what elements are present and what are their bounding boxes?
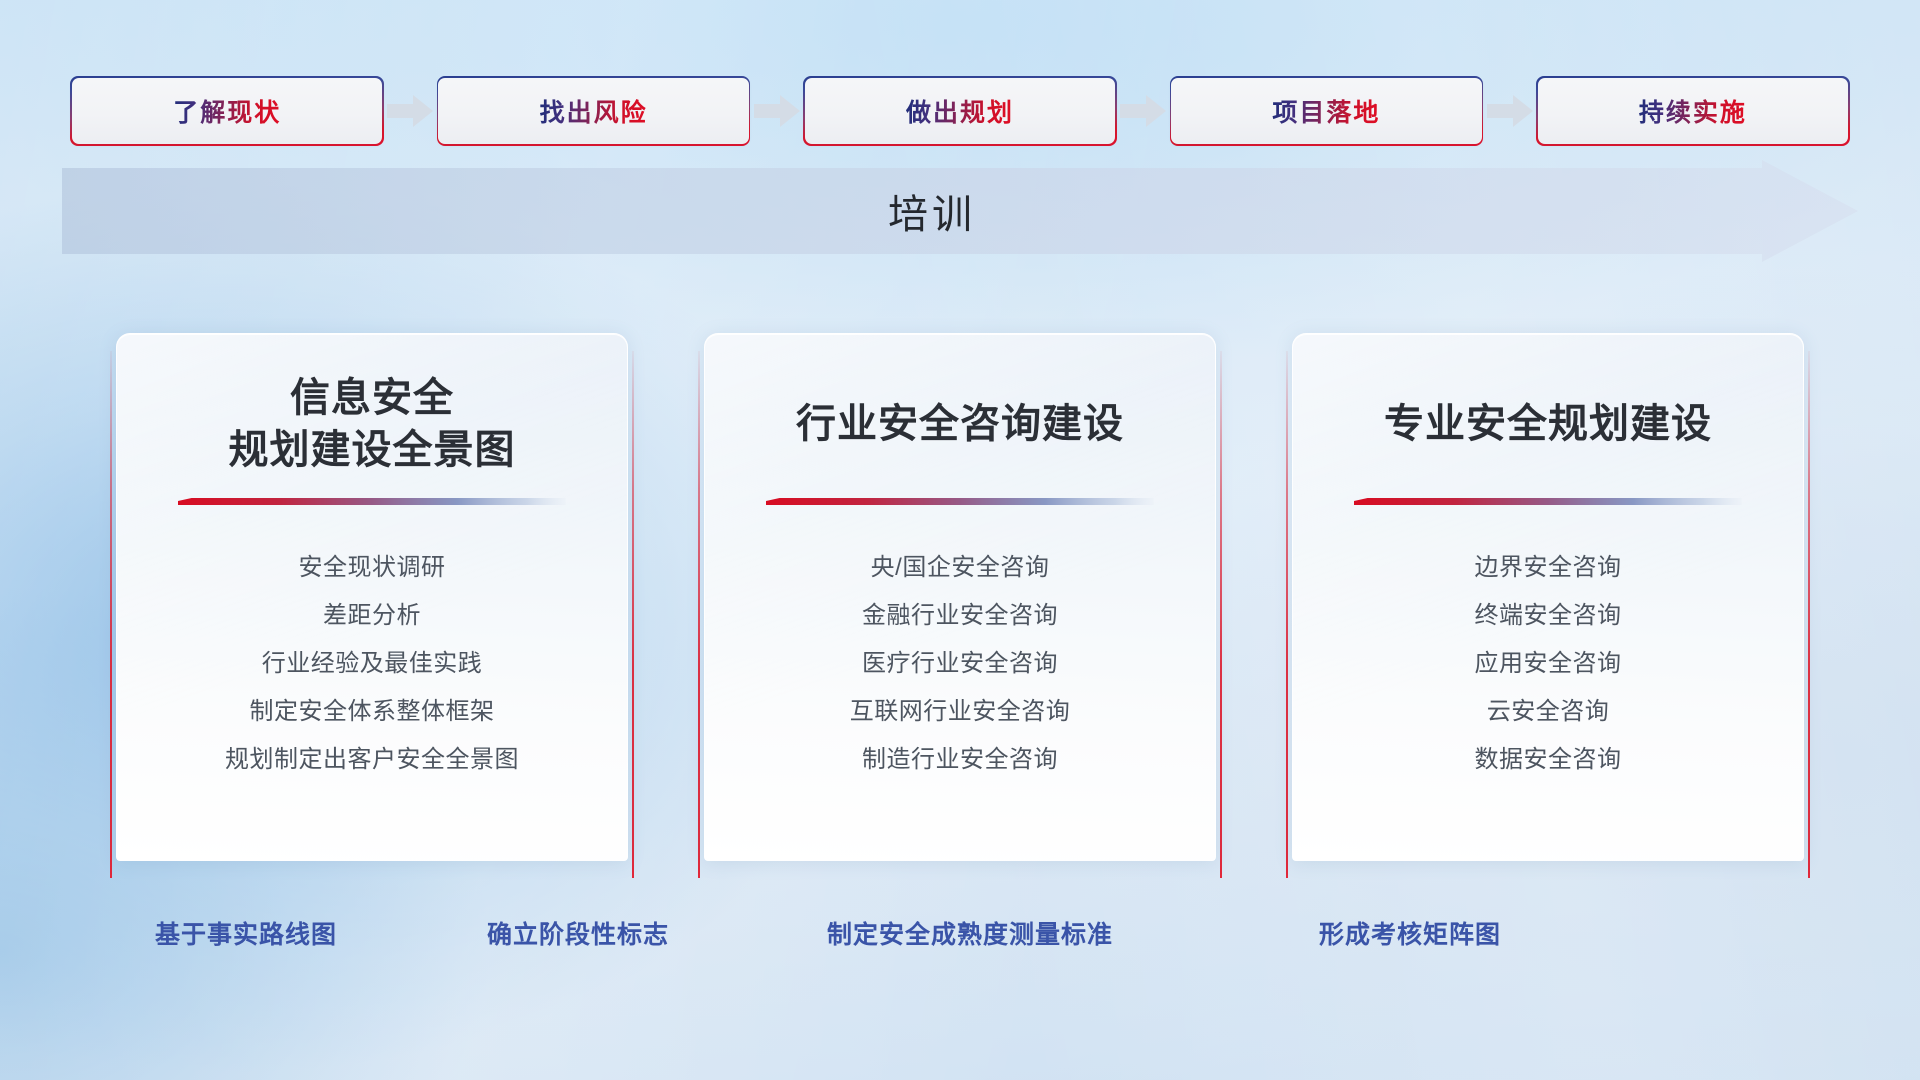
card-wrap-2: 行业安全咨询建设 [698, 333, 1222, 878]
capability-card-row: 信息安全 规划建设全景图 [110, 333, 1810, 878]
footer-label-2: 确立阶段性标志 [487, 915, 669, 951]
arrow-right-icon [1120, 95, 1166, 127]
step-label-5: 持续实施 [1639, 93, 1747, 129]
card-title-2: 行业安全咨询建设 [796, 372, 1124, 476]
list-item: 差距分析 [117, 592, 627, 640]
card-item-list-2: 央/国企安全咨询 金融行业安全咨询 医疗行业安全咨询 互联网行业安全咨询 制造行… [705, 544, 1215, 784]
list-item: 制定安全体系整体框架 [117, 688, 627, 736]
step-connector-4 [1482, 88, 1538, 134]
step-label-3: 做出规划 [906, 93, 1014, 129]
step-box-5[interactable]: 持续实施 [1538, 78, 1848, 144]
card-wrap-1: 信息安全 规划建设全景图 [110, 333, 634, 878]
card-wrap-3: 专业安全规划建设 [1286, 333, 1810, 878]
tapered-gradient-rule-icon [1354, 498, 1742, 512]
capability-card-2[interactable]: 行业安全咨询建设 [704, 333, 1216, 861]
footer-label-1: 基于事实路线图 [155, 915, 337, 951]
list-item: 互联网行业安全咨询 [705, 688, 1215, 736]
list-item: 云安全咨询 [1293, 688, 1803, 736]
arrow-right-icon [387, 95, 433, 127]
list-item: 规划制定出客户安全全景图 [117, 736, 627, 784]
list-item: 医疗行业安全咨询 [705, 640, 1215, 688]
process-step-row: 了解现状 找出风险 做出规划 项目落地 [72, 78, 1848, 144]
card-left-edge-2 [698, 351, 700, 878]
step-box-4[interactable]: 项目落地 [1171, 78, 1481, 144]
card-left-edge-1 [110, 351, 112, 878]
step-label-4: 项目落地 [1272, 93, 1380, 129]
list-item: 边界安全咨询 [1293, 544, 1803, 592]
card-title-1: 信息安全 规划建设全景图 [229, 372, 516, 476]
card-right-edge-2 [1220, 351, 1222, 878]
tapered-gradient-rule-icon [178, 498, 566, 512]
step-connector-3 [1115, 88, 1171, 134]
card-right-edge-3 [1808, 351, 1810, 878]
list-item: 行业经验及最佳实践 [117, 640, 627, 688]
step-box-3[interactable]: 做出规划 [805, 78, 1115, 144]
step-label-1: 了解现状 [173, 93, 281, 129]
footer-label-4: 形成考核矩阵图 [1319, 915, 1501, 951]
card-item-list-1: 安全现状调研 差距分析 行业经验及最佳实践 制定安全体系整体框架 规划制定出客户… [117, 544, 627, 784]
list-item: 终端安全咨询 [1293, 592, 1803, 640]
capability-card-3[interactable]: 专业安全规划建设 [1292, 333, 1804, 861]
arrow-right-icon [754, 95, 800, 127]
list-item: 金融行业安全咨询 [705, 592, 1215, 640]
step-box-2[interactable]: 找出风险 [438, 78, 748, 144]
tapered-gradient-rule-icon [766, 498, 1154, 512]
footer-label-row: 基于事实路线图 确立阶段性标志 制定安全成熟度测量标准 形成考核矩阵图 [0, 915, 1920, 959]
card-item-list-3: 边界安全咨询 终端安全咨询 应用安全咨询 云安全咨询 数据安全咨询 [1293, 544, 1803, 784]
step-box-1[interactable]: 了解现状 [72, 78, 382, 144]
banner-title: 培训 [62, 160, 1802, 262]
list-item: 央/国企安全咨询 [705, 544, 1215, 592]
step-connector-2 [749, 88, 805, 134]
card-title-3: 专业安全规划建设 [1384, 372, 1712, 476]
capability-card-1[interactable]: 信息安全 规划建设全景图 [116, 333, 628, 861]
list-item: 制造行业安全咨询 [705, 736, 1215, 784]
list-item: 数据安全咨询 [1293, 736, 1803, 784]
card-left-edge-3 [1286, 351, 1288, 878]
step-connector-1 [382, 88, 438, 134]
arrow-right-icon [1487, 95, 1533, 127]
card-right-edge-1 [632, 351, 634, 878]
list-item: 安全现状调研 [117, 544, 627, 592]
list-item: 应用安全咨询 [1293, 640, 1803, 688]
footer-label-3: 制定安全成熟度测量标准 [827, 915, 1113, 951]
step-label-2: 找出风险 [540, 93, 648, 129]
training-banner: 培训 [62, 160, 1858, 262]
